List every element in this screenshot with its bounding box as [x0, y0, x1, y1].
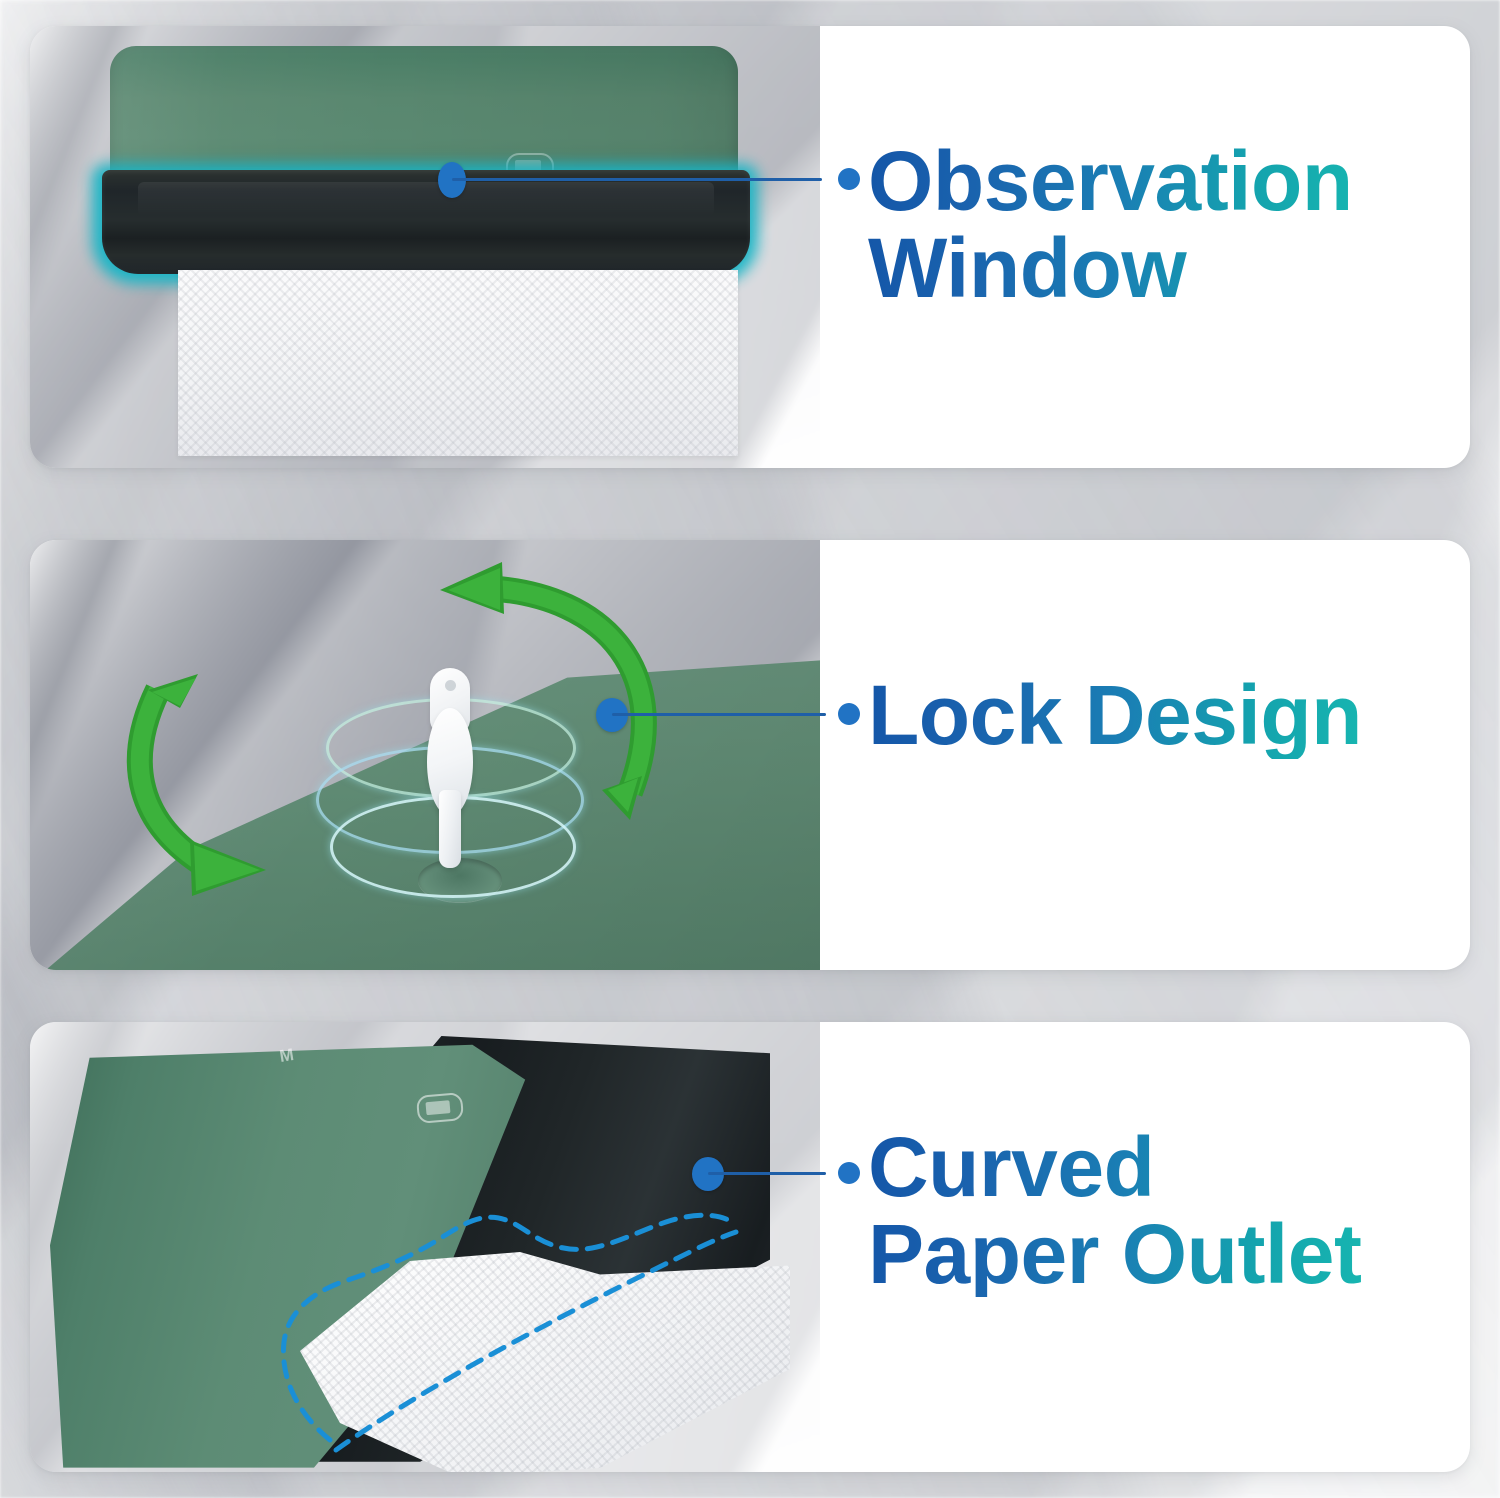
feature-label-observation-window: Observation Window [868, 138, 1353, 311]
callout-line-curved-paper-outlet [708, 1172, 826, 1175]
feature-label-curved-paper-outlet: Curved Paper Outlet [868, 1124, 1361, 1297]
paper-towel-sheet [178, 270, 738, 456]
callout-enddot-lock-design [838, 703, 860, 725]
observation-window-strip [102, 170, 750, 274]
callout-line-lock-design [612, 713, 826, 716]
rotation-arrow-left [140, 674, 266, 896]
callout-enddot-observation-window [838, 168, 860, 190]
lock-key [425, 668, 475, 868]
callout-line-observation-window [452, 178, 822, 181]
callout-enddot-curved-paper-outlet [838, 1162, 860, 1184]
curved-outlet-dashed-outline [30, 1022, 820, 1472]
product-photo-lock-design [30, 540, 820, 970]
lock-key-stem [439, 790, 461, 868]
feature-label-lock-design: Lock Design [868, 672, 1362, 759]
product-photo-observation-window [30, 26, 820, 468]
infographic-page: Observation Window [0, 0, 1500, 1498]
product-photo-curved-paper-outlet: M [30, 1022, 820, 1472]
